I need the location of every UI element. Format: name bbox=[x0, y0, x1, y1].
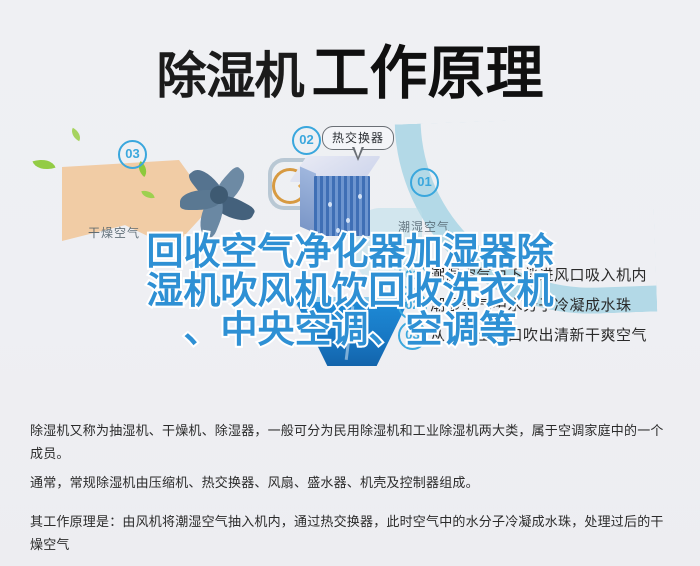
water-tank-label: 水箱 bbox=[296, 324, 408, 341]
step-item: 02 潮湿空气中水分子冷凝成水珠 bbox=[398, 290, 698, 320]
diagram-badge-01: 01 bbox=[410, 168, 439, 197]
diagram-badge-03: 03 bbox=[118, 140, 147, 169]
step-text-01: 潮湿空气由下部进风口吸入机内 bbox=[430, 264, 647, 285]
diagram-badge-02: 02 bbox=[292, 126, 321, 155]
title-part-two: 工作原理 bbox=[311, 39, 543, 107]
step-text-02: 潮湿空气中水分子冷凝成水珠 bbox=[430, 294, 632, 315]
paragraph-one-line-one: 除湿机又称为抽湿机、干燥机、除湿器，一般可分为民用除湿机和工业除湿机两大类，属于… bbox=[30, 420, 675, 466]
humid-air-label: 潮湿空气 bbox=[398, 218, 450, 235]
step-badge-01: 01 bbox=[398, 261, 427, 290]
page-title: 除湿机工作原理 bbox=[0, 26, 700, 110]
paragraph-one-line-two: 通常，常规除湿机由压缩机、热交换器、风扇、盛水器、机壳及控制器组成。 bbox=[30, 472, 675, 495]
title-part-one: 除湿机 bbox=[156, 47, 303, 105]
fan-propeller-icon bbox=[176, 154, 272, 240]
step-item: 01 潮湿空气由下部进风口吸入机内 bbox=[398, 260, 698, 290]
paragraph-two-line-one: 其工作原理是：由风机将潮湿空气抽入机内，通过热交换器，此时空气中的水分子冷凝成水… bbox=[30, 511, 675, 557]
infographic-page: 除湿机工作原理 干燥空气 bbox=[0, 0, 700, 566]
leaf-icon bbox=[32, 155, 55, 174]
step-item: 03 从上部出风口吹出清新干爽空气 bbox=[398, 320, 698, 350]
heat-exchanger-icon bbox=[298, 156, 382, 240]
leaf-icon bbox=[69, 128, 84, 142]
step-badge-02: 02 bbox=[398, 291, 427, 320]
water-tank-icon: 水箱 bbox=[296, 302, 408, 374]
step-text-03: 从上部出风口吹出清新干爽空气 bbox=[430, 324, 647, 345]
body-copy: 除湿机又称为抽湿机、干燥机、除湿器，一般可分为民用除湿机和工业除湿机两大类，属于… bbox=[30, 420, 675, 566]
step-list: 01 潮湿空气由下部进风口吸入机内 02 潮湿空气中水分子冷凝成水珠 03 从上… bbox=[398, 260, 698, 350]
step-badge-03: 03 bbox=[398, 321, 427, 350]
diagram-illustration: 干燥空气 03 02 bbox=[0, 112, 700, 412]
dry-air-label: 干燥空气 bbox=[88, 224, 140, 241]
callout-pointer-icon bbox=[352, 147, 364, 161]
title-band: 除湿机工作原理 bbox=[0, 0, 700, 118]
